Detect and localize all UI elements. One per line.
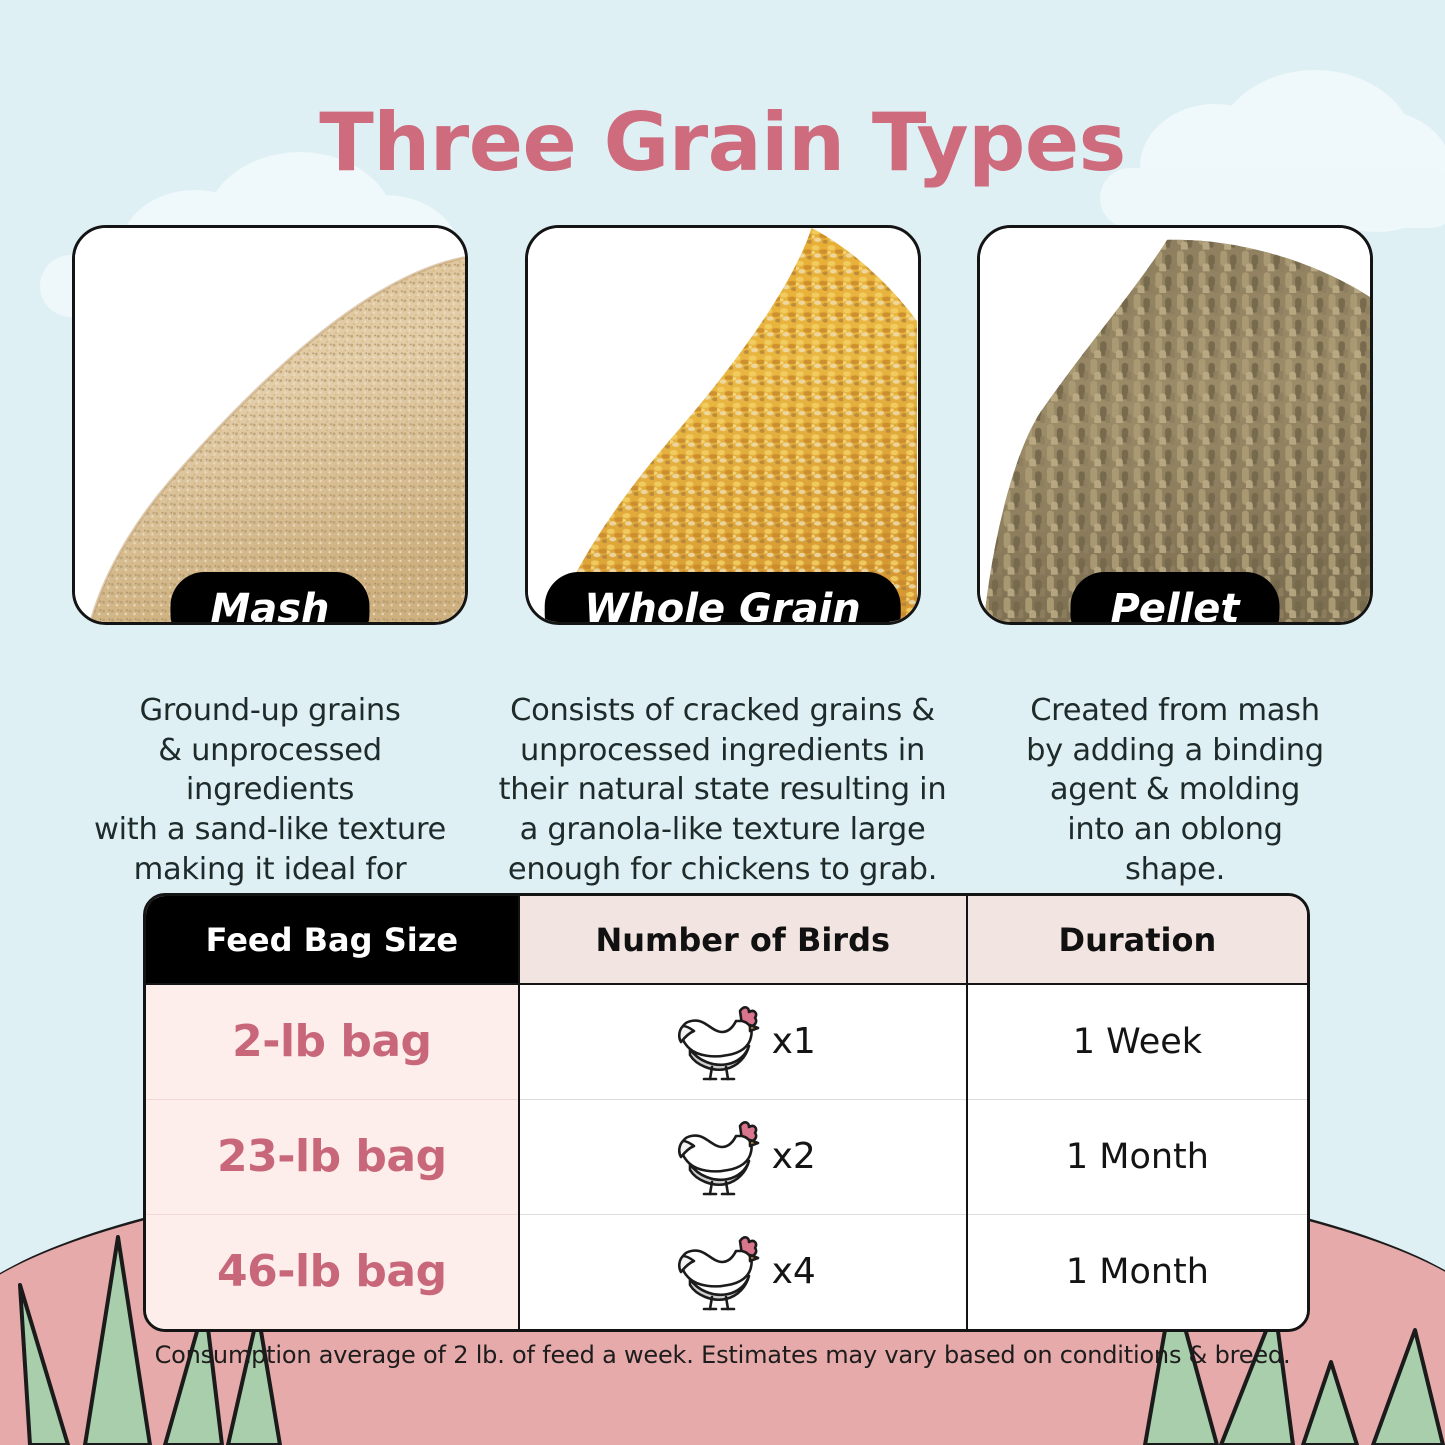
grain-description-whole-grain: Consists of cracked grains & unprocessed… xyxy=(488,691,958,889)
grain-card-whole-grain: Whole Grain Consists of cracked grains &… xyxy=(525,225,921,929)
cell-duration: 1 Month xyxy=(967,1099,1307,1214)
mash-grain-pile-icon xyxy=(75,228,465,622)
chicken-icon xyxy=(670,999,766,1085)
table-row: 2-lb bag xyxy=(146,984,1307,1099)
table-row: 46-lb bag xyxy=(146,1214,1307,1329)
page-title: Three Grain Types xyxy=(0,96,1445,189)
column-header-number-of-birds: Number of Birds xyxy=(519,896,967,984)
feed-bag-table: Feed Bag Size Number of Birds Duration 2… xyxy=(143,893,1310,1332)
grain-pill-label-mash: Mash xyxy=(170,572,369,625)
bird-count: x1 xyxy=(772,1021,816,1062)
cell-number-of-birds: x2 xyxy=(519,1099,967,1214)
cell-bag-size: 46-lb bag xyxy=(146,1214,519,1329)
whole-grain-pile-icon xyxy=(528,228,918,622)
grain-card-pellet: Pellet Created from mash by adding a bin… xyxy=(977,225,1373,929)
grain-pill-label-whole-grain: Whole Grain xyxy=(544,572,901,625)
cell-bag-size: 2-lb bag xyxy=(146,984,519,1099)
cell-duration: 1 Week xyxy=(967,984,1307,1099)
grain-cards: Mash Ground-up grains & unprocessed ingr… xyxy=(72,225,1373,929)
pellet-pile-icon xyxy=(980,228,1370,622)
bird-count: x4 xyxy=(772,1251,816,1292)
cell-number-of-birds: x4 xyxy=(519,1214,967,1329)
grain-card-mash: Mash Ground-up grains & unprocessed ingr… xyxy=(72,225,468,929)
chicken-icon xyxy=(670,1114,766,1200)
table-row: 23-lb bag xyxy=(146,1099,1307,1214)
footnote-text: Consumption average of 2 lb. of feed a w… xyxy=(0,1341,1445,1369)
cell-bag-size: 23-lb bag xyxy=(146,1099,519,1214)
grain-pill-label-pellet: Pellet xyxy=(1070,572,1279,625)
column-header-duration: Duration xyxy=(967,896,1307,984)
grain-photo-whole-grain: Whole Grain xyxy=(525,225,921,625)
grain-photo-pellet: Pellet xyxy=(977,225,1373,625)
grain-photo-mash: Mash xyxy=(72,225,468,625)
chicken-icon xyxy=(670,1229,766,1315)
column-header-feed-bag-size: Feed Bag Size xyxy=(146,896,519,984)
grain-description-pellet: Created from mash by adding a binding ag… xyxy=(995,691,1355,889)
table-header-row: Feed Bag Size Number of Birds Duration xyxy=(146,896,1307,984)
cell-number-of-birds: x1 xyxy=(519,984,967,1099)
bird-count: x2 xyxy=(772,1136,816,1177)
cell-duration: 1 Month xyxy=(967,1214,1307,1329)
infographic-poster: Three Grain Types xyxy=(0,0,1445,1445)
